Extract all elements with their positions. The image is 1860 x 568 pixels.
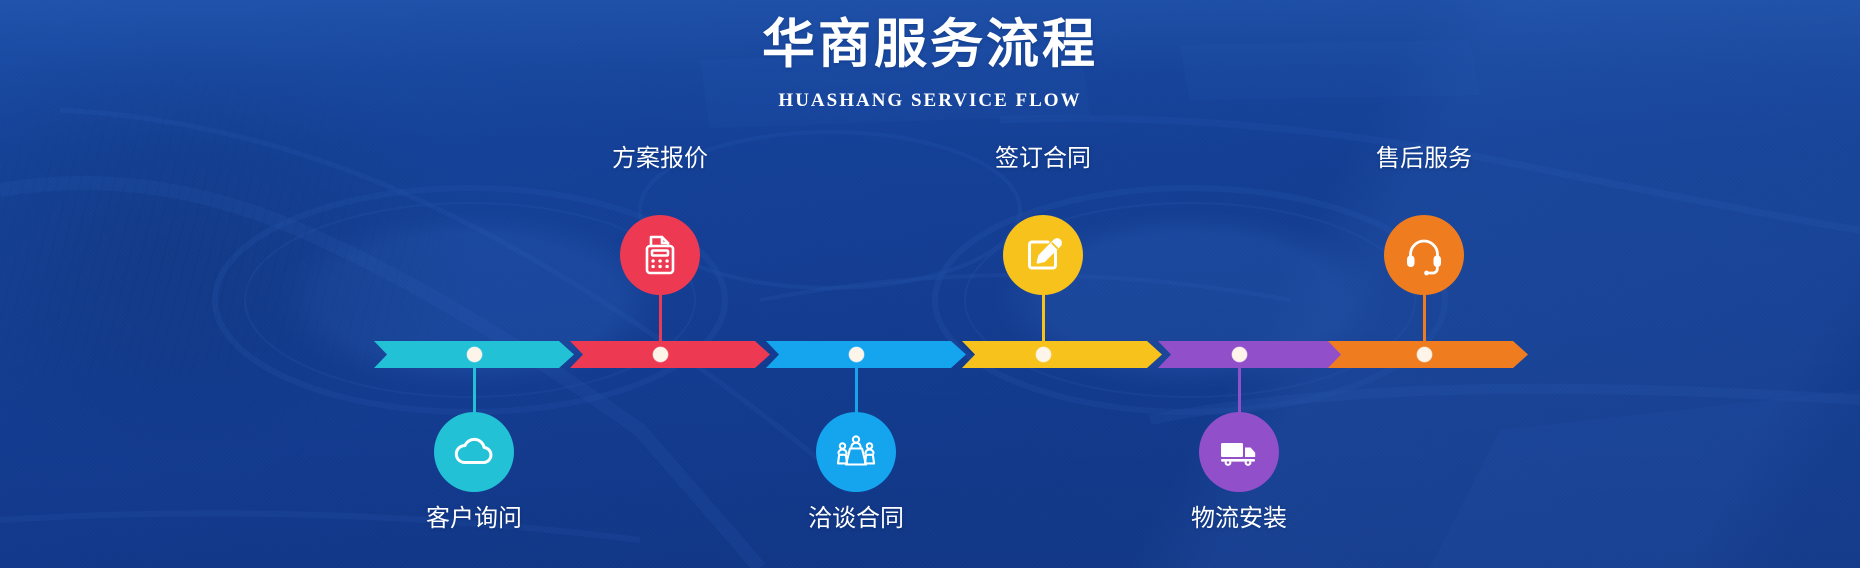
flow-node-dot-1 [467, 347, 482, 362]
meeting-icon [833, 431, 879, 473]
flow-arrow-segment-3 [766, 341, 966, 368]
flow-icon-bubble-5[interactable] [1199, 412, 1279, 492]
cloud-icon [452, 430, 496, 474]
flow-connector-4 [1042, 292, 1045, 354]
headset-icon [1401, 233, 1447, 277]
sign-contract-icon [1021, 233, 1065, 277]
flow-step-label-4: 签订合同 [995, 143, 1091, 173]
flow-icon-bubble-1[interactable] [434, 412, 514, 492]
flow-step-label-3: 洽谈合同 [808, 503, 904, 533]
flow-connector-3 [855, 355, 858, 417]
flow-node-dot-3 [849, 347, 864, 362]
flow-node-dot-4 [1036, 347, 1051, 362]
flow-connector-1 [473, 355, 476, 417]
page-subtitle: HUASHANG SERVICE FLOW [0, 88, 1860, 114]
flow-icon-bubble-3[interactable] [816, 412, 896, 492]
flow-connector-5 [1238, 355, 1241, 417]
flow-node-dot-6 [1417, 347, 1432, 362]
flow-arrow-segment-4 [962, 341, 1162, 368]
banner-heading: 华商服务流程 HUASHANG SERVICE FLOW [0, 14, 1860, 114]
flow-icon-bubble-6[interactable] [1384, 215, 1464, 295]
flow-node-dot-2 [653, 347, 668, 362]
page-title: 华商服务流程 [0, 14, 1860, 76]
flow-arrow-segment-2 [570, 341, 770, 368]
flow-connector-6 [1423, 292, 1426, 354]
calculator-icon [639, 233, 681, 277]
flow-connector-2 [659, 292, 662, 354]
flow-node-dot-5 [1232, 347, 1247, 362]
flow-step-label-5: 物流安装 [1191, 503, 1287, 533]
service-flow-banner: 华商服务流程 HUASHANG SERVICE FLOW 客户询问 [0, 0, 1860, 568]
flow-icon-bubble-2[interactable] [620, 215, 700, 295]
flow-step-label-2: 方案报价 [612, 143, 708, 173]
flow-step-label-6: 售后服务 [1376, 143, 1472, 173]
truck-icon [1216, 432, 1262, 472]
flow-step-label-1: 客户询问 [426, 503, 522, 533]
flow-icon-bubble-4[interactable] [1003, 215, 1083, 295]
